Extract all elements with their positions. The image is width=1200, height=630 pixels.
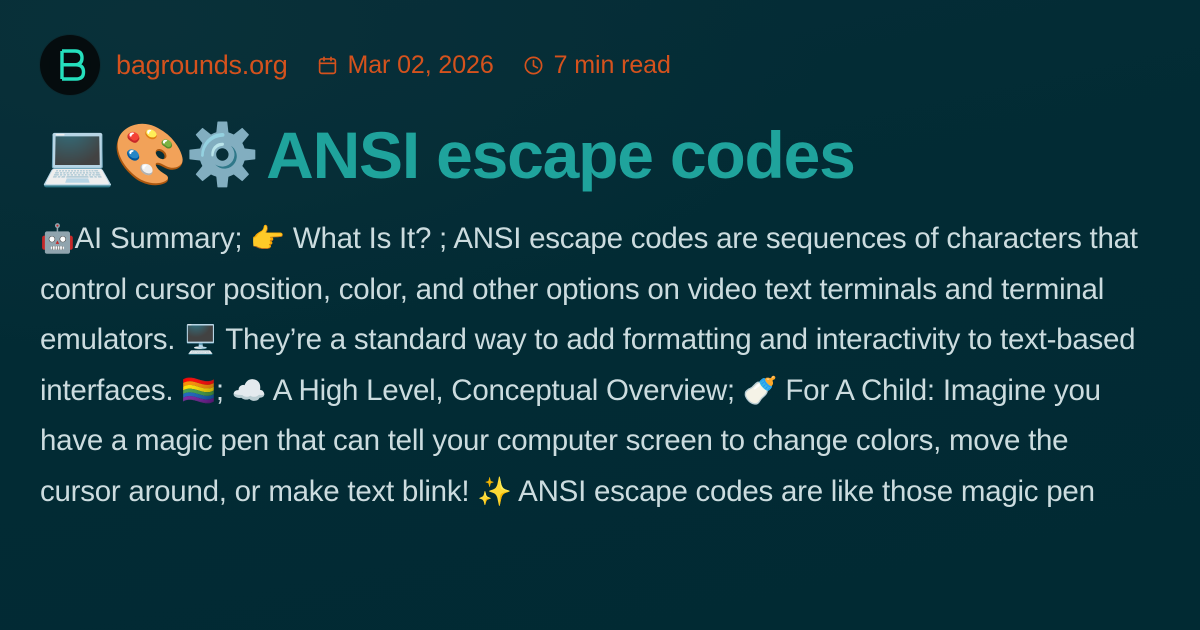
calendar-icon [317, 55, 338, 76]
publish-date: Mar 02, 2026 [317, 51, 494, 80]
sparkles-icon: ✨ [477, 475, 512, 508]
title-emoji-group: 💻🎨⚙️ [40, 125, 258, 185]
summary-text-run: ANSI escape codes are like those magic p… [512, 475, 1095, 508]
brand-name[interactable]: bagrounds.org [116, 50, 288, 81]
read-time: 7 min read [523, 51, 671, 80]
publish-date-text: Mar 02, 2026 [348, 51, 494, 80]
robot-icon: 🤖 [40, 222, 75, 255]
bagrounds-b-logo-icon [40, 35, 100, 95]
desktop-computer-icon: 🖥️ [183, 323, 218, 356]
cloud-icon: ☁️ [232, 374, 267, 407]
rainbow-flag-icon: 🏳️‍🌈 [181, 374, 216, 407]
summary-text-run: ; [216, 374, 232, 407]
og-preview-card: bagrounds.org Mar 02, 2026 7 min read 💻🎨… [0, 0, 1200, 630]
pointing-right-icon: 👉 [250, 222, 285, 255]
page-title: 💻🎨⚙️ ANSI escape codes [40, 112, 1160, 198]
page-title-text: ANSI escape codes [266, 122, 855, 188]
ai-summary-paragraph: 🤖AI Summary; 👉 What Is It? ; ANSI escape… [40, 214, 1150, 517]
read-time-text: 7 min read [554, 51, 671, 80]
baby-bottle-icon: 🍼 [743, 374, 778, 407]
clock-icon [523, 55, 544, 76]
summary-text-run: A High Level, Conceptual Overview; [266, 374, 742, 407]
article-meta-row: bagrounds.org Mar 02, 2026 7 min read [40, 34, 1160, 96]
ai-summary-text: AI Summary; 👉 What Is It? ; ANSI escape … [40, 222, 1138, 508]
summary-text-run: AI Summary; [75, 222, 251, 255]
